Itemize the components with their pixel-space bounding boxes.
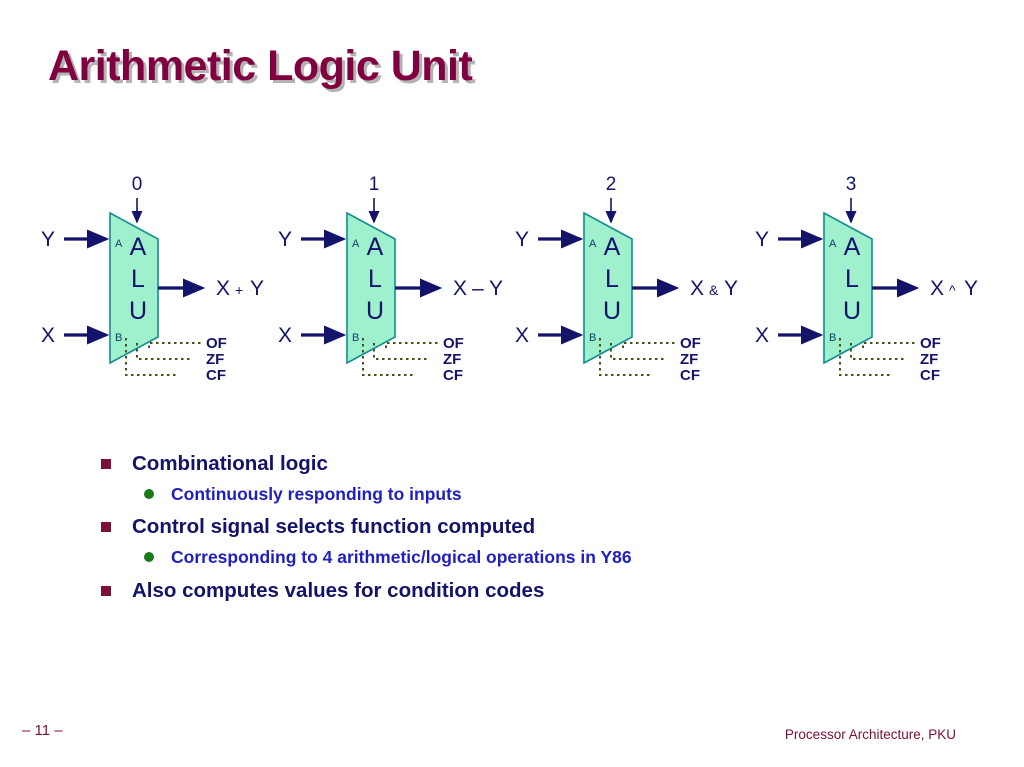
input-y-label: Y [41,228,55,251]
bullet-level-1: Also computes values for condition codes [96,577,976,605]
flag-wire [374,343,427,359]
square-bullet-icon [101,522,111,532]
flag-label: ZF [206,351,224,368]
output-operand-left: X [453,277,467,300]
port-a-label: A [352,238,360,250]
input-y-label: Y [278,228,292,251]
alu-unit: 0YAXBALUX+YOFZFCF [16,160,272,400]
flag-wire [623,343,676,348]
alu-body-letter: U [603,297,621,325]
input-x-label: X [755,324,769,347]
alu-schematic: 2YAXBALUX&YOFZFCF [490,160,746,400]
bullet-list: Combinational logicContinuously respondi… [96,450,976,609]
alu-body-letter: U [843,297,861,325]
alu-body-letter: A [844,233,861,261]
flag-label: OF [680,335,701,352]
port-b-label: B [115,332,122,344]
port-b-label: B [589,332,596,344]
alu-body-letter: L [368,265,382,293]
output-operand-right: Y [964,277,978,300]
flag-label: CF [443,367,463,384]
alu-schematic: 0YAXBALUX+YOFZFCF [16,160,272,400]
alu-diagram-group: 0YAXBALUX+YOFZFCF1YAXBALUX–YOFZFCF2YAXBA… [0,160,1024,400]
flag-label: OF [920,335,941,352]
bullet-level-1: Control signal selects function computed [96,513,976,541]
alu-body-letter: L [605,265,619,293]
output-operand-left: X [216,277,230,300]
input-x-label: X [515,324,529,347]
flag-label: OF [443,335,464,352]
bullet-level-2: Continuously responding to inputs [96,483,976,507]
flag-wire [149,343,202,348]
alu-body-letter: A [367,233,384,261]
alu-body-letter: U [366,297,384,325]
port-a-label: A [115,238,123,250]
alu-body-letter: U [129,297,147,325]
square-bullet-icon [101,459,111,469]
input-x-label: X [278,324,292,347]
alu-body-letter: A [130,233,147,261]
flag-label: CF [206,367,226,384]
output-operator: – [472,277,484,300]
alu-body-letter: A [604,233,621,261]
alu-schematic: 1YAXBALUX–YOFZFCF [253,160,509,400]
bullet-text: Control signal selects function computed [132,515,535,538]
output-expression: X^Y [930,277,978,300]
alu-unit: 2YAXBALUX&YOFZFCF [490,160,746,400]
alu-body-letter: L [845,265,859,293]
alu-control-label: 1 [369,174,380,195]
port-b-label: B [829,332,836,344]
alu-schematic: 3YAXBALUX^YOFZFCF [730,160,986,400]
output-operator: + [235,282,243,298]
alu-control-label: 3 [846,174,857,195]
port-a-label: A [829,238,837,250]
footer-credit: Processor Architecture, PKU [785,727,956,742]
flag-wire [863,343,916,348]
alu-control-label: 2 [606,174,617,195]
input-y-label: Y [755,228,769,251]
flag-label: ZF [443,351,461,368]
flag-label: CF [920,367,940,384]
bullet-level-1: Combinational logic [96,450,976,478]
flag-label: CF [680,367,700,384]
bullet-text: Corresponding to 4 arithmetic/logical op… [171,547,632,567]
flag-wire [386,343,439,348]
page-number: – 11 – [22,722,63,739]
flag-label: ZF [920,351,938,368]
flag-wire [851,343,904,359]
round-bullet-icon [144,552,154,562]
input-x-label: X [41,324,55,347]
page-title: Arithmetic Logic Unit [48,42,472,91]
bullet-text: Also computes values for condition codes [132,579,544,602]
alu-unit: 1YAXBALUX–YOFZFCF [253,160,509,400]
flag-wire [137,343,190,359]
output-operator: & [709,282,719,298]
square-bullet-icon [101,586,111,596]
input-y-label: Y [515,228,529,251]
port-a-label: A [589,238,597,250]
alu-unit: 3YAXBALUX^YOFZFCF [730,160,986,400]
output-operand-left: X [690,277,704,300]
alu-body-letter: L [131,265,145,293]
bullet-level-2: Corresponding to 4 arithmetic/logical op… [96,546,976,570]
output-operand-left: X [930,277,944,300]
bullet-text: Continuously responding to inputs [171,484,462,504]
flag-wire [611,343,664,359]
round-bullet-icon [144,489,154,499]
bullet-text: Combinational logic [132,452,328,475]
flag-label: ZF [680,351,698,368]
flag-label: OF [206,335,227,352]
port-b-label: B [352,332,359,344]
output-operator: ^ [949,282,956,298]
alu-control-label: 0 [132,174,143,195]
